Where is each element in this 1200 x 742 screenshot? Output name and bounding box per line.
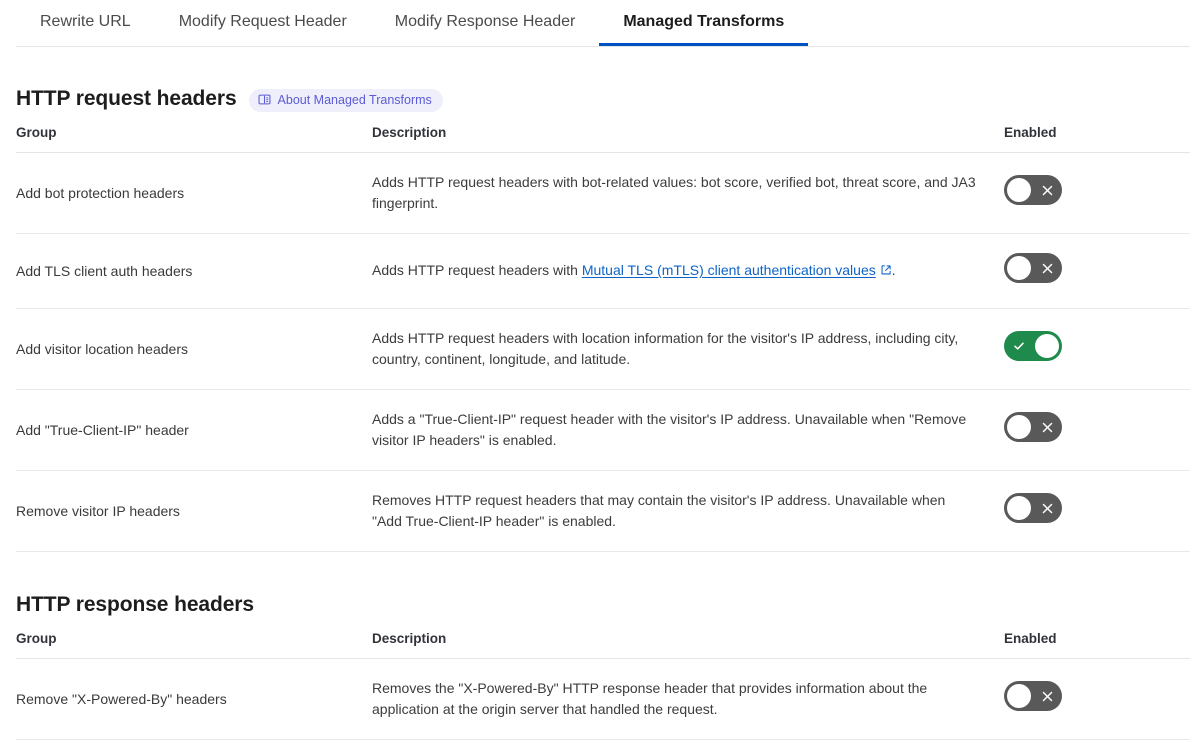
row-description: Adds a "True-Client-IP" request header w…	[372, 390, 1004, 471]
column-header-enabled: Enabled	[1004, 124, 1190, 153]
tab-bar: Rewrite URL Modify Request Header Modify…	[16, 0, 1190, 47]
tab-rewrite-url[interactable]: Rewrite URL	[16, 0, 155, 46]
close-icon	[1042, 253, 1053, 283]
tab-modify-request-header[interactable]: Modify Request Header	[155, 0, 371, 46]
row-group-label: Add TLS client auth headers	[16, 234, 372, 309]
toggle-knob	[1035, 334, 1059, 358]
toggle-add-true-client-ip-header[interactable]	[1004, 412, 1062, 442]
table-row: Remove visitor IP headers Removes HTTP r…	[16, 471, 1190, 552]
row-group-label: Remove "X-Powered-By" headers	[16, 659, 372, 740]
toggle-knob	[1007, 256, 1031, 280]
row-group-label: Add bot protection headers	[16, 153, 372, 234]
close-icon	[1042, 412, 1053, 442]
toggle-knob	[1007, 178, 1031, 202]
about-managed-transforms-badge[interactable]: About Managed Transforms	[249, 89, 443, 112]
toggle-knob	[1007, 684, 1031, 708]
row-group-label: Add visitor location headers	[16, 309, 372, 390]
table-row: Add TLS client auth headers Adds HTTP re…	[16, 234, 1190, 309]
table-row: Add "True-Client-IP" header Adds a "True…	[16, 390, 1190, 471]
book-icon	[258, 93, 271, 106]
toggle-remove-x-powered-by-headers[interactable]	[1004, 681, 1062, 711]
section-header: HTTP response headers	[16, 591, 1190, 619]
row-group-label: Remove visitor IP headers	[16, 471, 372, 552]
row-enabled-cell	[1004, 471, 1190, 552]
row-description: Removes HTTP request headers that may co…	[372, 471, 1004, 552]
table-row: Add bot protection headers Adds HTTP req…	[16, 153, 1190, 234]
page-title: HTTP request headers	[16, 85, 237, 113]
toggle-knob	[1007, 415, 1031, 439]
row-description: Adds HTTP request headers with Mutual TL…	[372, 234, 1004, 309]
response-headers-table: Group Description Enabled Remove "X-Powe…	[16, 630, 1190, 742]
row-enabled-cell	[1004, 153, 1190, 234]
toggle-add-visitor-location-headers[interactable]	[1004, 331, 1062, 361]
toggle-remove-visitor-ip-headers[interactable]	[1004, 493, 1062, 523]
row-enabled-cell	[1004, 390, 1190, 471]
tab-managed-transforms[interactable]: Managed Transforms	[599, 0, 808, 46]
description-prefix: Adds HTTP request headers with	[372, 262, 582, 278]
table-header-row: Group Description Enabled	[16, 630, 1190, 659]
toggle-knob	[1007, 496, 1031, 520]
description-suffix: .	[892, 262, 896, 278]
row-group-label: Add "True-Client-IP" header	[16, 390, 372, 471]
tab-modify-response-header[interactable]: Modify Response Header	[371, 0, 600, 46]
table-row: Remove "X-Powered-By" headers Removes th…	[16, 659, 1190, 740]
column-header-enabled: Enabled	[1004, 630, 1190, 659]
external-link-icon	[880, 261, 892, 282]
badge-label: About Managed Transforms	[278, 92, 432, 108]
section-http-request-headers: HTTP request headers About Managed Trans…	[16, 85, 1190, 552]
check-icon	[1013, 331, 1025, 361]
section-header: HTTP request headers About Managed Trans…	[16, 85, 1190, 113]
close-icon	[1042, 681, 1053, 711]
request-headers-table: Group Description Enabled Add bot protec…	[16, 124, 1190, 552]
page-title: HTTP response headers	[16, 591, 254, 619]
row-description: Adds HTTP request headers with location …	[372, 309, 1004, 390]
table-row: Add visitor location headers Adds HTTP r…	[16, 309, 1190, 390]
close-icon	[1042, 175, 1053, 205]
section-http-response-headers: HTTP response headers Group Description …	[16, 591, 1190, 742]
column-header-group: Group	[16, 124, 372, 153]
column-header-description: Description	[372, 124, 1004, 153]
row-enabled-cell	[1004, 234, 1190, 309]
row-description: Adds HTTP request headers with bot-relat…	[372, 153, 1004, 234]
toggle-add-tls-client-auth-headers[interactable]	[1004, 253, 1062, 283]
table-header-row: Group Description Enabled	[16, 124, 1190, 153]
row-enabled-cell	[1004, 309, 1190, 390]
column-header-group: Group	[16, 630, 372, 659]
toggle-add-bot-protection-headers[interactable]	[1004, 175, 1062, 205]
mutual-tls-link[interactable]: Mutual TLS (mTLS) client authentication …	[582, 262, 876, 278]
column-header-description: Description	[372, 630, 1004, 659]
row-enabled-cell	[1004, 659, 1190, 740]
row-description: Removes the "X-Powered-By" HTTP response…	[372, 659, 1004, 740]
close-icon	[1042, 493, 1053, 523]
